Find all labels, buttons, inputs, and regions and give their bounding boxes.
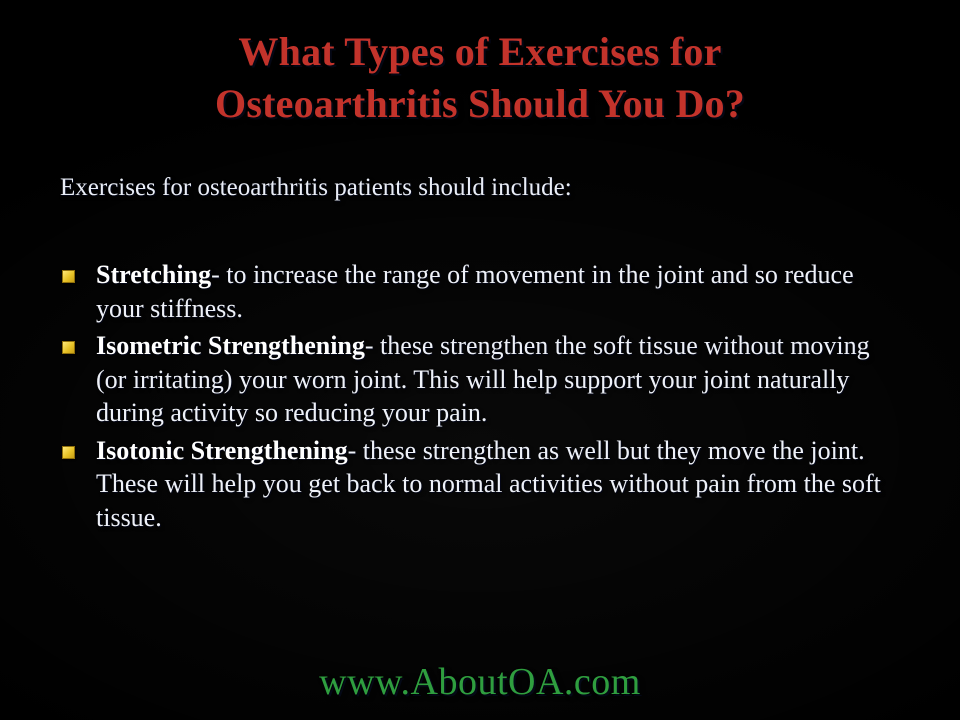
- list-item-text: Isometric Strengthening- these strengthe…: [96, 331, 870, 427]
- square-bullet-icon: [62, 446, 75, 459]
- title-line-1: What Types of Exercises for: [60, 26, 900, 78]
- square-bullet-icon: [62, 341, 75, 354]
- presentation-slide: What Types of Exercises for Osteoarthrit…: [0, 0, 960, 720]
- list-item: Stretching- to increase the range of mov…: [56, 258, 898, 325]
- square-bullet-icon: [62, 270, 75, 283]
- list-item: Isotonic Strengthening- these strengthen…: [56, 434, 898, 535]
- title-line-2: Osteoarthritis Should You Do?: [60, 78, 900, 130]
- list-item-text: Stretching- to increase the range of mov…: [96, 260, 854, 323]
- list-item-lead: Isotonic Strengthening: [96, 436, 348, 465]
- list-item-lead: Stretching: [96, 260, 211, 289]
- list-item-lead: Isometric Strengthening: [96, 331, 365, 360]
- list-item-text: Isotonic Strengthening- these strengthen…: [96, 436, 881, 532]
- slide-title: What Types of Exercises for Osteoarthrit…: [60, 26, 900, 130]
- bullet-list: Stretching- to increase the range of mov…: [56, 258, 898, 538]
- footer-url: www.AboutOA.com: [0, 658, 960, 706]
- lead-in-text: Exercises for osteoarthritis patients sh…: [60, 172, 900, 204]
- list-item: Isometric Strengthening- these strengthe…: [56, 329, 898, 430]
